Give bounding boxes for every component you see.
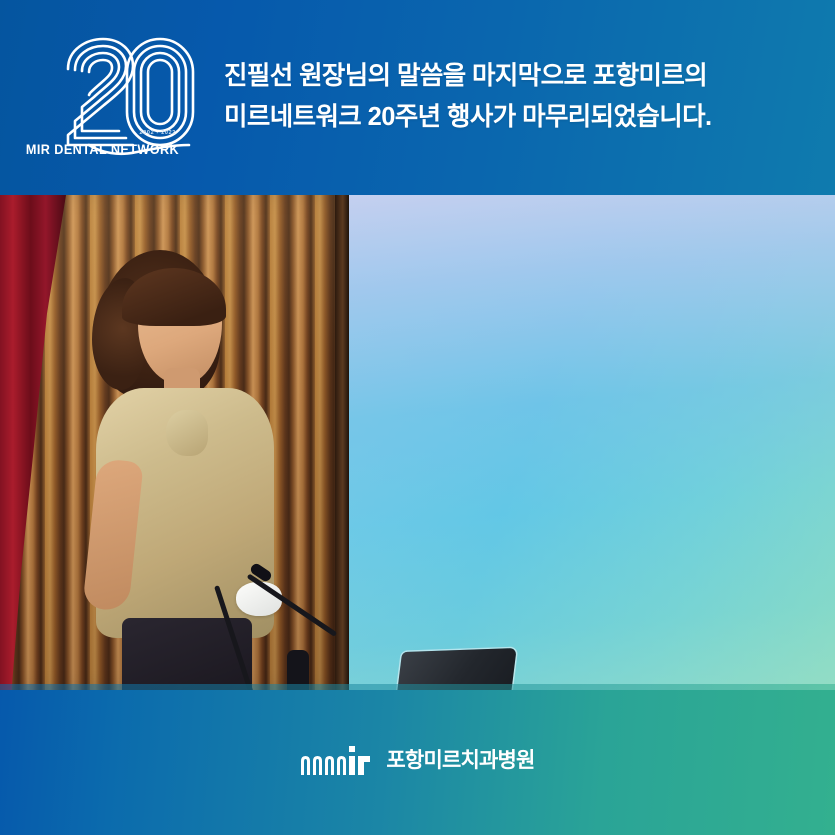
face-mask [236, 582, 282, 616]
headline: 진필선 원장님의 말씀을 마지막으로 포항미르의 미르네트워크 20주년 행사가… [224, 56, 824, 139]
card-header: 2002 - 2022 MIR DENTAL NETWORK 진필선 원장님의 … [0, 0, 835, 195]
anniversary-years: 2002 - 2022 [86, 131, 176, 136]
event-photo: 원장 [0, 195, 835, 690]
mir-logo-mark-icon [300, 745, 376, 777]
mir-dental-network-wordmark: MIR DENTAL NETWORK [7, 143, 198, 157]
wall-edge [335, 195, 349, 690]
social-card: 2002 - 2022 MIR DENTAL NETWORK 진필선 원장님의 … [0, 0, 835, 835]
headline-line-2: 미르네트워크 20주년 행사가 마무리되었습니다. [224, 97, 824, 138]
speaker-blouse-bow [166, 410, 208, 456]
headline-line-1: 진필선 원장님의 말씀을 마지막으로 포항미르의 [224, 56, 824, 97]
header-inner: 2002 - 2022 MIR DENTAL NETWORK 진필선 원장님의 … [0, 0, 835, 195]
card-footer: 포항미르치과병원 [0, 690, 835, 835]
speaker-figure [78, 250, 293, 690]
footer-brand-lockup: 포항미르치과병원 [300, 745, 534, 777]
projection-screen: 원장 [330, 195, 835, 690]
hospital-name: 포항미르치과병원 [386, 750, 534, 771]
